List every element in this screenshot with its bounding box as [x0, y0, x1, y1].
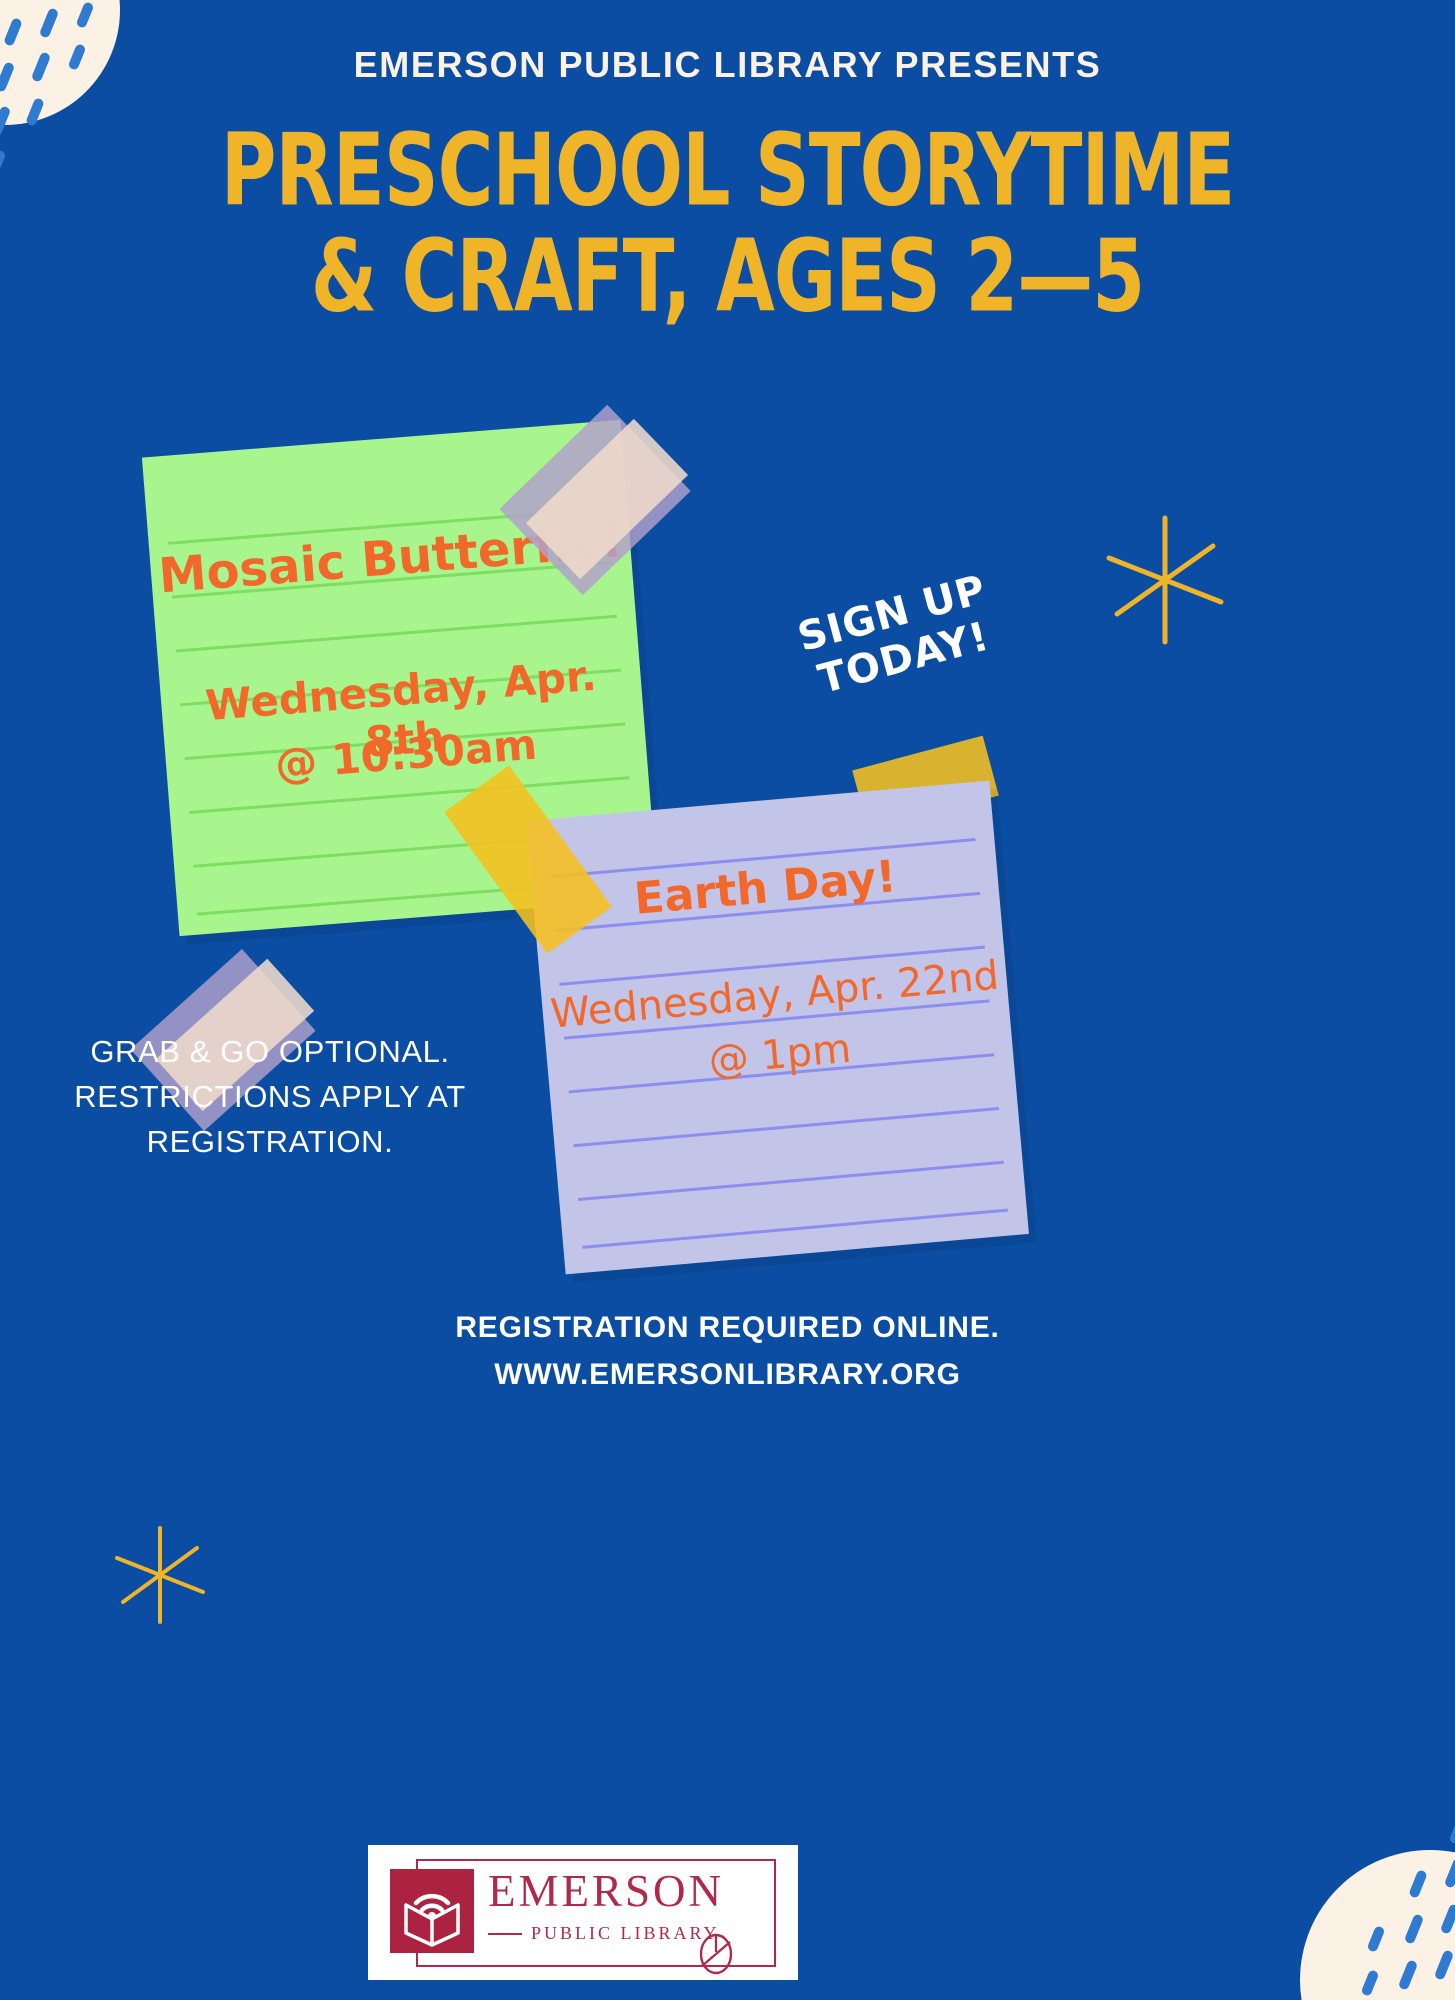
- notice-line-1: GRAB & GO OPTIONAL.: [60, 1030, 480, 1075]
- registration-line: REGISTRATION REQUIRED ONLINE.: [0, 1305, 1455, 1352]
- website-line[interactable]: WWW.EMERSONLIBRARY.ORG: [0, 1352, 1455, 1399]
- restrictions-notice: GRAB & GO OPTIONAL. RESTRICTIONS APPLY A…: [60, 1030, 480, 1165]
- notice-line-3: REGISTRATION.: [60, 1120, 480, 1165]
- logo-wordmark: EMERSON: [488, 1869, 778, 1914]
- library-logo: EMERSON PUBLIC LIBRARY: [368, 1845, 798, 1980]
- sign-up-callout: SIGN UP TODAY!: [712, 545, 1084, 727]
- open-book-wifi-icon: [390, 1869, 474, 1953]
- logo-divider-rule: [488, 1933, 522, 1935]
- presents-kicker: EMERSON PUBLIC LIBRARY PRESENTS: [0, 44, 1455, 86]
- title-line-2: & CRAFT, AGES 2—5: [0, 226, 1455, 326]
- page-title: PRESCHOOL STORYTIME & CRAFT, AGES 2—5: [0, 120, 1455, 302]
- poster-canvas: EMERSON PUBLIC LIBRARY PRESENTS PRESCHOO…: [0, 0, 1455, 2000]
- title-line-1: PRESCHOOL STORYTIME: [0, 120, 1455, 220]
- sparkle-icon-bottom: [105, 1520, 215, 1630]
- notice-line-2: RESTRICTIONS APPLY AT: [60, 1075, 480, 1120]
- registration-info: REGISTRATION REQUIRED ONLINE. WWW.EMERSO…: [0, 1305, 1455, 1398]
- logo-subtitle: PUBLIC LIBRARY: [531, 1923, 720, 1944]
- sparkle-icon-top: [1095, 510, 1235, 650]
- note-card-purple[interactable]: Earth Day! Wednesday, Apr. 22nd @ 1pm: [526, 781, 1029, 1275]
- computer-mouse-icon: [696, 1930, 736, 1976]
